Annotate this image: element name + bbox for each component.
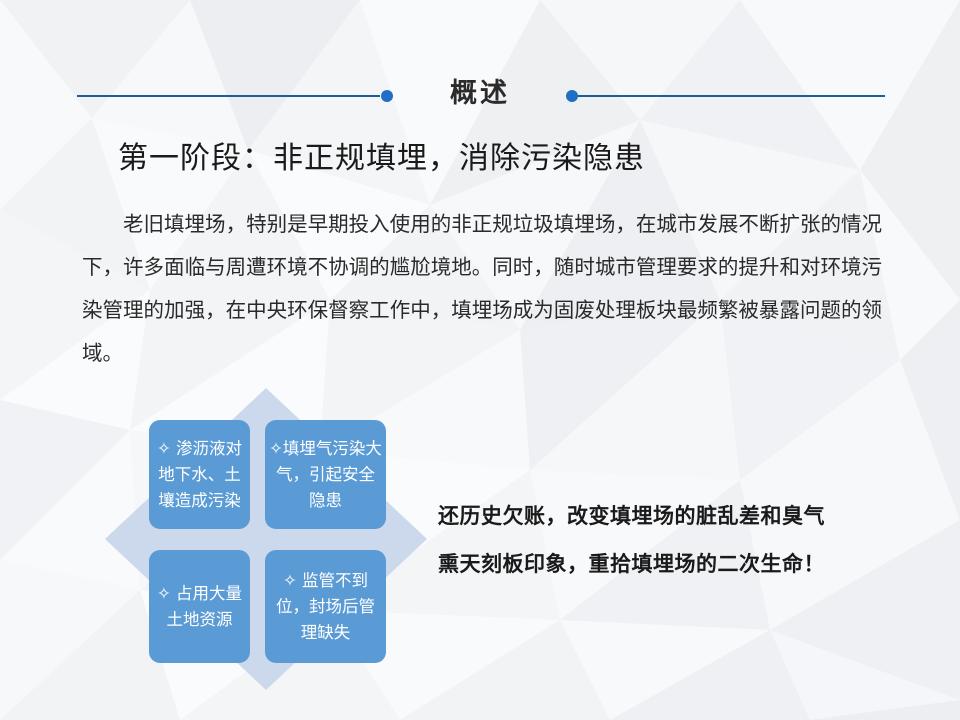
closing-statement-line-2: 熏天刻板印象，重拾填埋场的二次生命！: [438, 540, 890, 588]
issue-card-supervision[interactable]: ✧ 监管不到位，封场后管理缺失: [265, 550, 386, 663]
closing-statement: 还历史欠账，改变填埋场的脏乱差和臭气 熏天刻板印象，重拾填埋场的二次生命！: [438, 492, 890, 588]
body-paragraph: 老旧填埋场，特别是早期投入使用的非正规垃圾填埋场，在城市发展不断扩张的情况下，许…: [82, 203, 882, 375]
issue-card-landfill-gas[interactable]: ✧填埋气污染大气，引起安全隐患: [265, 420, 386, 529]
issue-card-label: ✧ 占用大量土地资源: [153, 581, 246, 633]
issue-card-grid: ✧ 渗沥液对地下水、土壤造成污染 ✧填埋气污染大气，引起安全隐患 ✧ 占用大量土…: [149, 420, 386, 663]
slide-canvas: 概述 第一阶段：非正规填埋，消除污染隐患 老旧填埋场，特别是早期投入使用的非正规…: [0, 0, 960, 720]
issue-card-leachate[interactable]: ✧ 渗沥液对地下水、土壤造成污染: [149, 420, 250, 529]
closing-statement-line-1: 还历史欠账，改变填埋场的脏乱差和臭气: [438, 492, 890, 540]
issue-card-label: ✧ 渗沥液对地下水、土壤造成污染: [153, 436, 246, 514]
issue-card-land-occupation[interactable]: ✧ 占用大量土地资源: [149, 550, 250, 663]
page-headline: 第一阶段：非正规填埋，消除污染隐患: [118, 133, 645, 177]
issue-card-label: ✧填埋气污染大气，引起安全隐患: [269, 436, 382, 514]
issue-card-label: ✧ 监管不到位，封场后管理缺失: [269, 568, 382, 646]
section-title: 概述: [0, 74, 960, 114]
